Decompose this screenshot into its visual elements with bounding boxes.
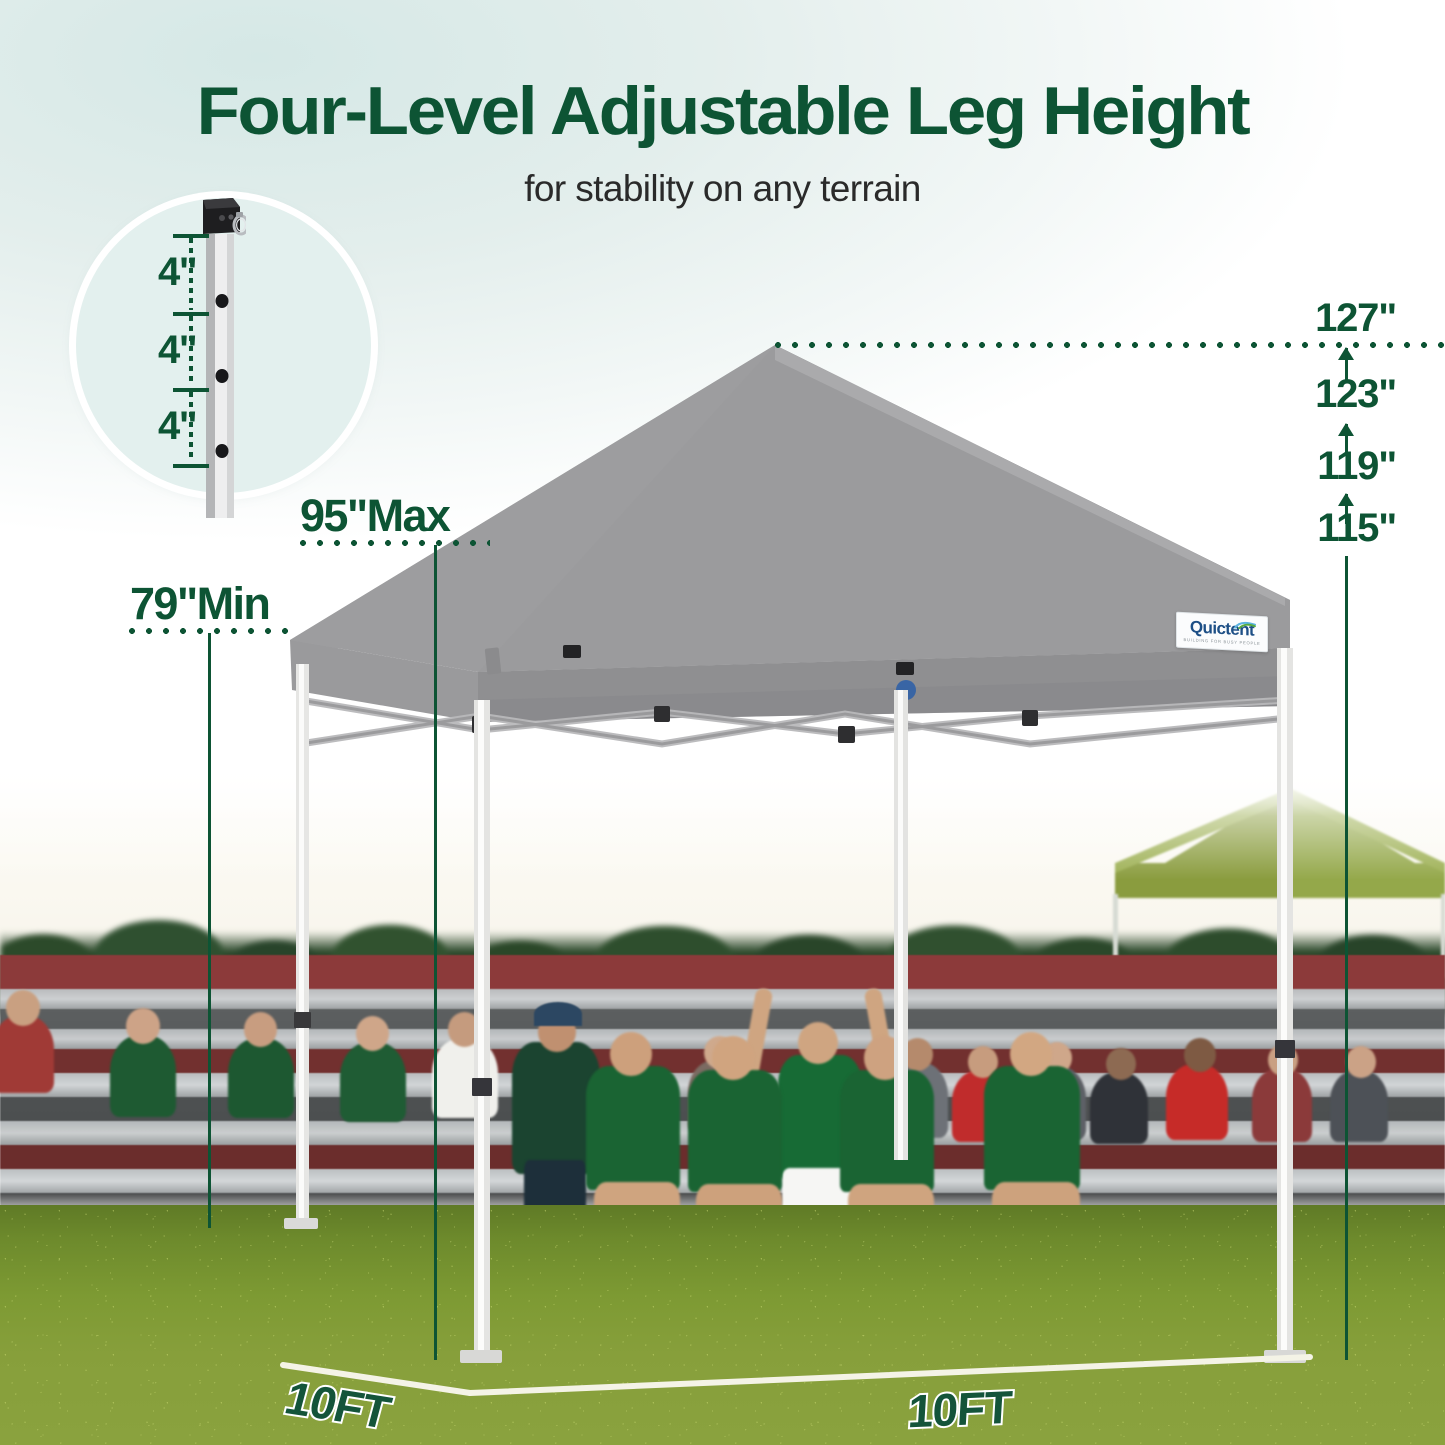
spectator-head <box>356 1016 389 1051</box>
seated-player-body <box>688 1070 782 1192</box>
spectator <box>432 1038 498 1118</box>
adjustable-leg-illustration <box>200 198 246 518</box>
spectator <box>340 1042 406 1122</box>
peak-height-level-1: 115" <box>1286 506 1396 551</box>
photo-top-fade <box>0 770 1445 816</box>
spectator <box>1252 1068 1312 1142</box>
spectator-head <box>1106 1048 1136 1080</box>
spectator <box>228 1038 294 1118</box>
seated-player-body <box>984 1066 1080 1190</box>
peak-height-level-2: 119" <box>1286 444 1396 489</box>
quictent-logo-patch: Quictent BUILDING FOR BUSY PEOPLE <box>1176 612 1268 653</box>
max-height-dotted-line <box>300 540 490 546</box>
spectator <box>110 1035 176 1117</box>
spectator-head <box>1184 1038 1216 1072</box>
spectator-head <box>902 1038 933 1071</box>
peak-height-level-4: 127" <box>1286 296 1396 341</box>
peak-height-vertical-line <box>1345 556 1348 1360</box>
spectator <box>0 1015 54 1093</box>
seated-player-body <box>586 1066 680 1190</box>
min-height-label: 79"Min <box>130 578 269 630</box>
infographic-stage: Quictent BUILDING FOR BUSY PEOPLE 10FT 1… <box>0 0 1445 1445</box>
page-title: Four-Level Adjustable Leg Height <box>0 72 1445 150</box>
seated-player-body <box>840 1070 934 1192</box>
min-height-vertical-line <box>208 633 211 1228</box>
spectator <box>1330 1070 1388 1142</box>
stadium-photo <box>0 770 1445 1445</box>
spectator-head <box>126 1008 160 1044</box>
footprint-width-label: 10FT <box>906 1380 1013 1439</box>
coach-cap-icon <box>534 1002 582 1026</box>
peak-height-level-3: 123" <box>1286 372 1396 417</box>
seated-player-head <box>864 1036 906 1080</box>
leg-segment-label-3: 4" <box>158 404 196 449</box>
leg-tick-bottom <box>173 464 209 468</box>
min-height-dotted-line <box>129 628 294 634</box>
spectator-head <box>1268 1044 1298 1076</box>
leg-segment-label-2: 4" <box>158 328 196 373</box>
spectator <box>1090 1072 1148 1144</box>
seated-player-head <box>712 1036 754 1080</box>
logo-swoosh-icon <box>1234 621 1256 630</box>
spectator-head <box>1346 1046 1376 1078</box>
spectator <box>1166 1064 1228 1140</box>
leg-segment-label-1: 4" <box>158 250 196 295</box>
max-height-vertical-line <box>434 545 437 1360</box>
spectator-head <box>448 1012 481 1047</box>
seated-player-head <box>1010 1032 1052 1076</box>
spectator-head <box>244 1012 277 1047</box>
max-height-label: 95"Max <box>300 490 449 542</box>
grass-field <box>0 1205 1445 1445</box>
spectator-head <box>6 990 40 1026</box>
seated-player-head <box>610 1032 652 1076</box>
standing-player-head <box>798 1022 838 1064</box>
